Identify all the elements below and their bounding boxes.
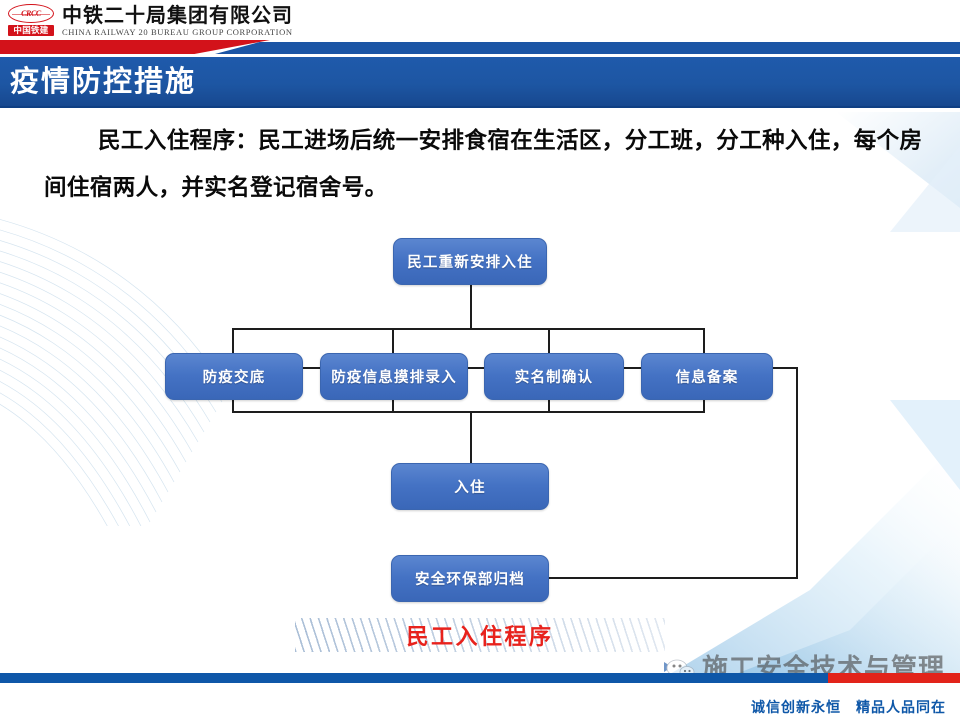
flow-node-step4[interactable]: 信息备案 (641, 353, 773, 400)
crcc-oval-mark: CRCC (8, 4, 54, 23)
flowchart-caption: 民工入住程序 (295, 618, 665, 652)
flow-node-archive[interactable]: 安全环保部归档 (391, 555, 549, 602)
title-underline (0, 106, 960, 108)
flow-node-step1[interactable]: 防疫交底 (165, 353, 303, 400)
footer-bar (0, 673, 960, 683)
connector-loop-right-start (770, 367, 798, 369)
company-name-cn: 中铁二十局集团有限公司 (62, 4, 293, 26)
flow-node-top[interactable]: 民工重新安排入住 (393, 238, 547, 285)
crcc-emblem-icon: CRCC 中国铁建 (8, 4, 54, 38)
connector-top-to-bus (470, 283, 472, 329)
flowchart: 民工重新安排入住 防疫交底 防疫信息摸排录入 实名制确认 信息备案 入住 安全环… (0, 215, 960, 615)
header-stripe (0, 40, 960, 54)
connector-step3-step4 (622, 367, 642, 369)
company-logo: CRCC 中国铁建 中铁二十局集团有限公司 CHINA RAILWAY 20 B… (8, 4, 293, 38)
company-name-en: CHINA RAILWAY 20 BUREAU GROUP CORPORATIO… (62, 27, 293, 37)
company-name-block: 中铁二十局集团有限公司 CHINA RAILWAY 20 BUREAU GROU… (62, 4, 293, 37)
page-title: 疫情防控措施 (10, 67, 196, 96)
connector-step1-step2 (300, 367, 322, 369)
header-stripe-blue (215, 42, 960, 54)
footer-bar-red (828, 673, 960, 683)
flow-node-step2[interactable]: 防疫信息摸排录入 (320, 353, 468, 400)
crcc-emblem-text: CRCC (21, 9, 41, 18)
slide-canvas: CRCC 中国铁建 中铁二十局集团有限公司 CHINA RAILWAY 20 B… (0, 0, 960, 720)
flow-node-step3[interactable]: 实名制确认 (484, 353, 624, 400)
connector-bus-to-occupy (470, 411, 472, 463)
crcc-emblem-sub: 中国铁建 (8, 25, 54, 36)
flow-node-occupy[interactable]: 入住 (391, 463, 549, 510)
body-paragraph: 民工入住程序：民工进场后统一安排食宿在生活区，分工班，分工种入住，每个房间住宿两… (44, 118, 924, 212)
connector-bus-drop-1 (232, 328, 234, 355)
connector-bus-drop-2 (392, 328, 394, 355)
caption-text: 民工入住程序 (406, 619, 553, 651)
connector-bus-upper (232, 328, 704, 330)
slide-header: CRCC 中国铁建 中铁二十局集团有限公司 CHINA RAILWAY 20 B… (0, 0, 960, 40)
connector-bus-lower (232, 411, 705, 413)
connector-step2-step3 (465, 367, 485, 369)
footer-bar-blue (0, 673, 835, 683)
connector-bus-drop-4 (703, 328, 705, 355)
connector-loop-to-archive (545, 577, 798, 579)
section-title-band: 疫情防控措施 (0, 57, 960, 106)
footer-slogan: 诚信创新永恒 精品人品同在 (751, 697, 946, 717)
connector-bus-drop-3 (548, 328, 550, 355)
connector-loop-vertical (796, 367, 798, 578)
